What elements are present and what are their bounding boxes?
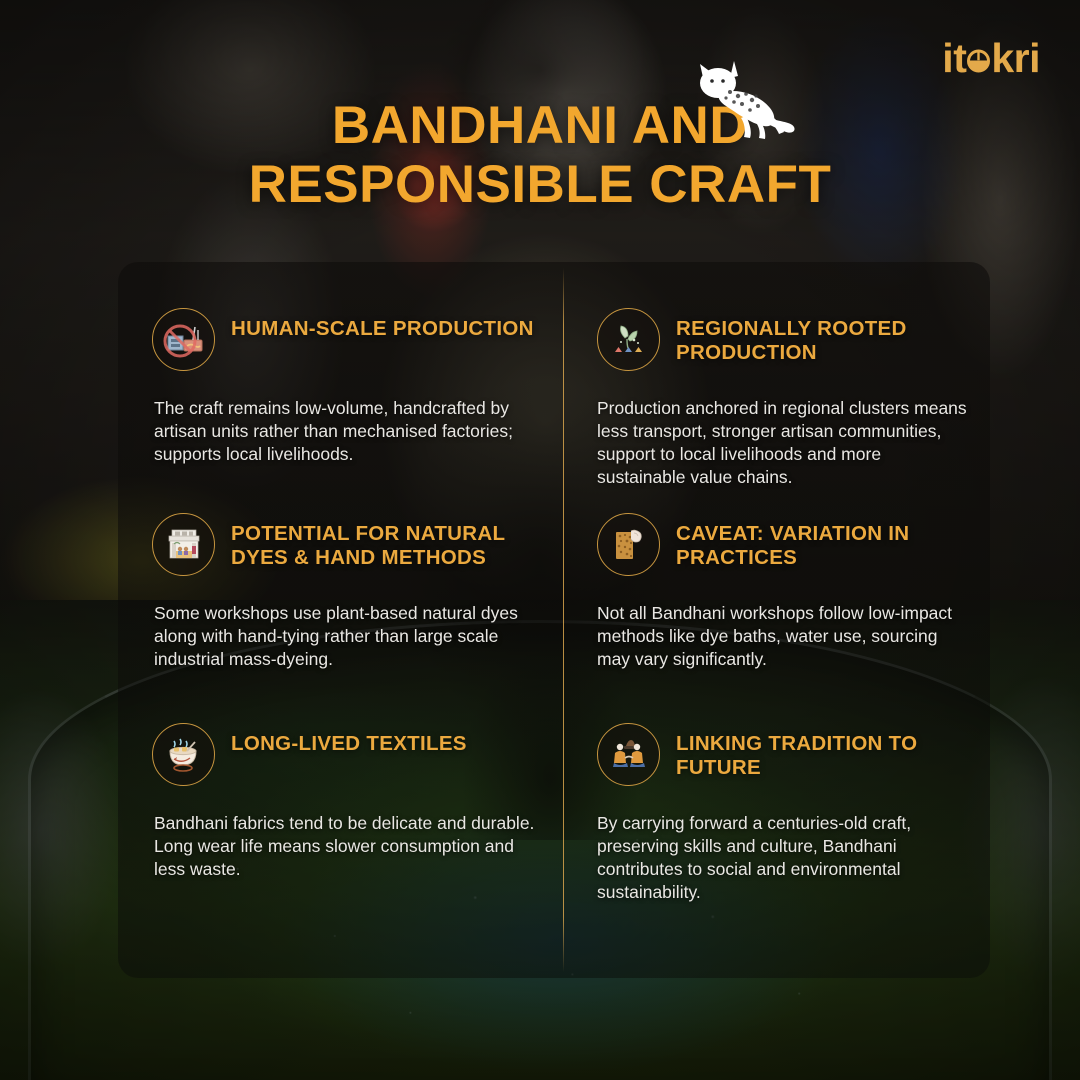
card-body: By carrying forward a centuries-old craf… [597, 812, 968, 904]
card-caveat-variation-in-practices: CAVEAT: VARIATION IN PRACTICES Not all B… [563, 467, 990, 677]
card-title: REGIONALLY ROOTED PRODUCTION [676, 308, 968, 365]
card-title: HUMAN-SCALE PRODUCTION [231, 308, 534, 341]
card-header: LONG-LIVED TEXTILES [152, 723, 541, 786]
card-header: LINKING TRADITION TO FUTURE [597, 723, 968, 786]
title-line-2: RESPONSIBLE CRAFT [0, 155, 1080, 214]
card-body: The craft remains low-volume, handcrafte… [154, 397, 541, 466]
no-factory-machine-icon [152, 308, 215, 371]
card-long-lived-textiles: LONG-LIVED TEXTILES Bandhani fabrics ten… [118, 677, 563, 978]
card-human-scale-production: HUMAN-SCALE PRODUCTION The craft remains… [118, 262, 563, 467]
basket-icon [965, 48, 992, 75]
two-artisans-seated-icon [597, 723, 660, 786]
card-title: LONG-LIVED TEXTILES [231, 723, 467, 756]
card-header: REGIONALLY ROOTED PRODUCTION [597, 308, 968, 371]
card-natural-dyes-hand-methods: POTENTIAL FOR NATURAL DYES & HAND METHOD… [118, 467, 563, 677]
brand-logo[interactable]: itkri [942, 38, 1040, 79]
title-line-1: BANDHANI AND [0, 96, 1080, 155]
cat-icon [686, 52, 806, 144]
artisan-workshop-building-icon [152, 513, 215, 576]
cards-grid: HUMAN-SCALE PRODUCTION The craft remains… [118, 262, 990, 978]
card-body: Not all Bandhani workshops follow low-im… [597, 602, 968, 671]
card-header: CAVEAT: VARIATION IN PRACTICES [597, 513, 968, 576]
page-title: BANDHANI AND RESPONSIBLE CRAFT [0, 96, 1080, 215]
steaming-dye-pot-icon [152, 723, 215, 786]
card-regionally-rooted-production: REGIONALLY ROOTED PRODUCTION Production … [563, 262, 990, 467]
logo-text-it: it [942, 35, 966, 81]
infographic-canvas: itkri [0, 0, 1080, 1080]
logo-text-kri: kri [991, 35, 1040, 81]
card-title: LINKING TRADITION TO FUTURE [676, 723, 968, 780]
card-body: Some workshops use plant-based natural d… [154, 602, 541, 671]
card-linking-tradition-to-future: LINKING TRADITION TO FUTURE By carrying … [563, 677, 990, 978]
card-title: POTENTIAL FOR NATURAL DYES & HAND METHOD… [231, 513, 541, 570]
card-title: CAVEAT: VARIATION IN PRACTICES [676, 513, 968, 570]
plants-regional-clusters-icon [597, 308, 660, 371]
hand-holding-patterned-fabric-icon [597, 513, 660, 576]
card-header: HUMAN-SCALE PRODUCTION [152, 308, 541, 371]
card-header: POTENTIAL FOR NATURAL DYES & HAND METHOD… [152, 513, 541, 576]
card-body: Bandhani fabrics tend to be delicate and… [154, 812, 541, 881]
